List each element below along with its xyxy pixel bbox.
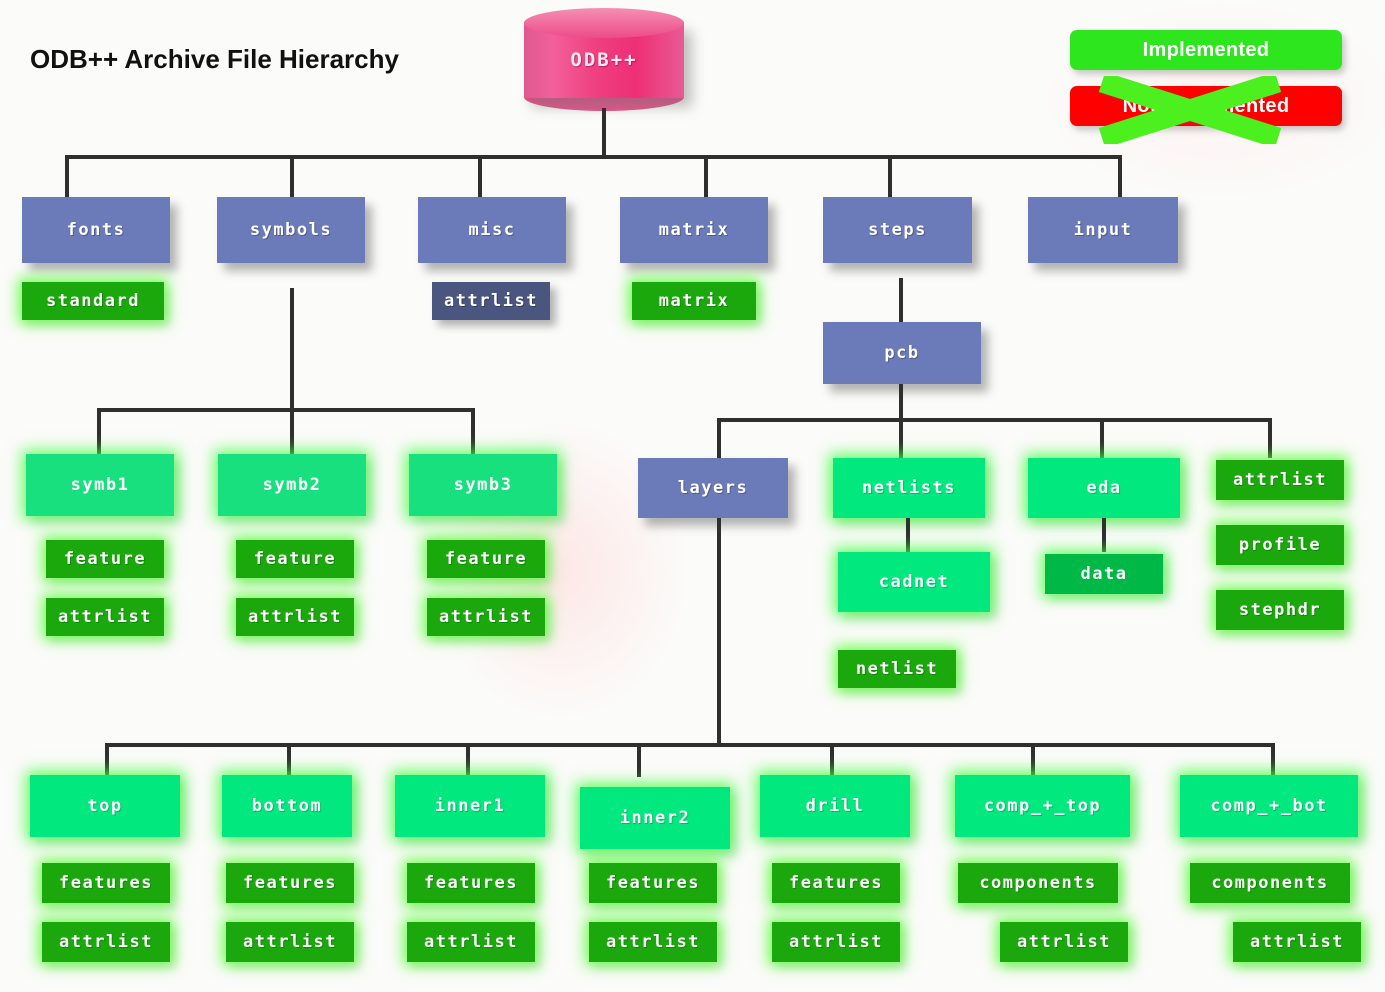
node-fonts[interactable]: fonts: [22, 197, 170, 263]
connector-drop-comp-bot: [1271, 743, 1275, 777]
node-cadnet-label: cadnet: [879, 572, 949, 592]
node-top-label: top: [87, 796, 122, 816]
node-misc-attrlist[interactable]: attrlist: [432, 282, 550, 320]
node-comp-top-components[interactable]: components: [958, 863, 1118, 903]
node-comp-top-label: comp_+_top: [984, 796, 1101, 816]
node-cadnet[interactable]: cadnet: [838, 552, 990, 612]
node-comp-top-components-label: components: [979, 873, 1096, 893]
node-symbols-label: symbols: [250, 220, 332, 240]
node-symb2-feature[interactable]: feature: [236, 540, 354, 578]
node-netlist[interactable]: netlist: [838, 650, 956, 688]
node-pcb-attrlist-label: attrlist: [1233, 470, 1327, 490]
connector-drop-steps: [888, 155, 892, 197]
connector-drop-symb2: [290, 408, 294, 456]
node-bottom[interactable]: bottom: [222, 775, 352, 837]
diagram-canvas: ODB++ Archive File Hierarchy ODB++ Imple…: [0, 0, 1385, 992]
node-comp-top[interactable]: comp_+_top: [955, 775, 1130, 837]
cylinder-top-ellipse: [524, 8, 684, 38]
node-input-label: input: [1074, 220, 1133, 240]
node-layers-label: layers: [678, 478, 748, 498]
node-eda[interactable]: eda: [1028, 458, 1180, 518]
node-symb2-attrlist[interactable]: attrlist: [236, 598, 354, 636]
node-symbols[interactable]: symbols: [217, 197, 365, 263]
connector-drop-eda: [1100, 418, 1104, 458]
node-netlist-label: netlist: [856, 659, 938, 679]
node-drill-attrlist[interactable]: attrlist: [772, 922, 900, 962]
node-symb3-feature-label: feature: [445, 549, 527, 569]
root-node-odbpp[interactable]: ODB++: [524, 8, 684, 108]
connector-drop-matrix: [704, 155, 708, 197]
node-drill-label: drill: [806, 796, 865, 816]
connector-pcb-bus: [717, 418, 1272, 422]
node-pcb-label: pcb: [884, 343, 919, 363]
legend: Implemented Not Implemented: [1070, 30, 1342, 126]
node-bottom-features[interactable]: features: [226, 863, 354, 903]
node-bottom-attrlist[interactable]: attrlist: [226, 922, 354, 962]
connector-drop-symb1: [97, 408, 101, 456]
connector-drop-inner2: [637, 743, 641, 777]
node-inner2-attrlist[interactable]: attrlist: [589, 922, 717, 962]
node-comp-bot-components-label: components: [1211, 873, 1328, 893]
node-input[interactable]: input: [1028, 197, 1178, 263]
connector-steps-to-pcb: [899, 278, 903, 322]
node-standard[interactable]: standard: [22, 282, 164, 320]
node-misc[interactable]: misc: [418, 197, 566, 263]
legend-implemented: Implemented: [1070, 30, 1342, 70]
node-pcb-profile-label: profile: [1239, 535, 1321, 555]
connector-drop-inner1: [466, 743, 470, 777]
node-misc-label: misc: [469, 220, 516, 240]
node-bottom-label: bottom: [252, 796, 322, 816]
connector-eda-to-data: [1102, 518, 1106, 552]
node-symb3-attrlist-label: attrlist: [439, 607, 533, 627]
node-netlists[interactable]: netlists: [833, 458, 985, 518]
node-inner1-attrlist[interactable]: attrlist: [407, 922, 535, 962]
node-inner1-features[interactable]: features: [407, 863, 535, 903]
node-comp-bot-components[interactable]: components: [1190, 863, 1350, 903]
node-comp-top-attrlist[interactable]: attrlist: [1000, 922, 1128, 962]
node-comp-bot-attrlist[interactable]: attrlist: [1233, 922, 1361, 962]
legend-not-implemented: Not Implemented: [1070, 86, 1342, 126]
node-matrix-label: matrix: [659, 220, 729, 240]
node-inner1-features-label: features: [424, 873, 518, 893]
node-symb2-feature-label: feature: [254, 549, 336, 569]
node-matrix-file-label: matrix: [659, 291, 729, 311]
connector-level1-bus: [65, 155, 1122, 159]
connector-pcb-stem: [899, 384, 903, 420]
node-top-attrlist-label: attrlist: [59, 932, 153, 952]
connector-symbols-bus: [97, 408, 475, 412]
node-inner2-features-label: features: [606, 873, 700, 893]
node-comp-bot-label: comp_+_bot: [1210, 796, 1327, 816]
node-symb1-label: symb1: [71, 475, 130, 495]
node-symb1-feature-label: feature: [64, 549, 146, 569]
node-symb2-label: symb2: [263, 475, 322, 495]
node-symb1[interactable]: symb1: [26, 454, 174, 516]
node-inner2[interactable]: inner2: [580, 787, 730, 849]
page-title: ODB++ Archive File Hierarchy: [30, 44, 399, 75]
node-matrix-file[interactable]: matrix: [632, 282, 756, 320]
connector-root-stem: [602, 108, 606, 158]
node-inner1-label: inner1: [435, 796, 505, 816]
node-pcb-profile[interactable]: profile: [1216, 525, 1344, 565]
node-symb3-attrlist[interactable]: attrlist: [427, 598, 545, 636]
connector-drop-top: [105, 743, 109, 777]
connector-netlists-to-cadnet: [906, 518, 910, 552]
node-bottom-features-label: features: [243, 873, 337, 893]
node-drill-features[interactable]: features: [772, 863, 900, 903]
connector-drop-misc: [478, 155, 482, 197]
node-drill-features-label: features: [789, 873, 883, 893]
node-comp-bot[interactable]: comp_+_bot: [1180, 775, 1358, 837]
connector-drop-symb3: [471, 408, 475, 456]
node-symb3-label: symb3: [454, 475, 513, 495]
legend-not-implemented-label: Not Implemented: [1123, 95, 1290, 118]
connector-drop-netlists: [899, 418, 903, 458]
node-symb1-feature[interactable]: feature: [46, 540, 164, 578]
connector-layers-stem: [717, 518, 721, 745]
node-drill[interactable]: drill: [760, 775, 910, 837]
connector-drop-fonts: [65, 155, 69, 197]
connector-drop-input: [1118, 155, 1122, 197]
node-symb2-attrlist-label: attrlist: [248, 607, 342, 627]
connector-symbols-stem: [290, 288, 294, 410]
node-top[interactable]: top: [30, 775, 180, 837]
node-symb1-attrlist[interactable]: attrlist: [46, 598, 164, 636]
node-fonts-label: fonts: [67, 220, 126, 240]
node-data[interactable]: data: [1045, 554, 1163, 594]
root-node-label: ODB++: [524, 38, 684, 82]
node-symb2[interactable]: symb2: [218, 454, 366, 516]
node-top-features[interactable]: features: [42, 863, 170, 903]
node-steps-label: steps: [868, 220, 927, 240]
legend-implemented-label: Implemented: [1143, 39, 1270, 62]
node-matrix[interactable]: matrix: [620, 197, 768, 263]
connector-layers-bus: [105, 743, 1275, 747]
node-layers[interactable]: layers: [638, 458, 788, 518]
node-bottom-attrlist-label: attrlist: [243, 932, 337, 952]
node-pcb-stephdr[interactable]: stephdr: [1216, 590, 1344, 630]
connector-drop-drill: [830, 743, 834, 777]
node-comp-top-attrlist-label: attrlist: [1017, 932, 1111, 952]
connector-drop-symbols: [290, 155, 294, 197]
node-misc-attrlist-label: attrlist: [444, 291, 538, 311]
node-netlists-label: netlists: [862, 478, 956, 498]
node-symb3[interactable]: symb3: [409, 454, 557, 516]
node-inner2-label: inner2: [620, 808, 690, 828]
node-drill-attrlist-label: attrlist: [789, 932, 883, 952]
node-pcb-attrlist[interactable]: attrlist: [1216, 460, 1344, 500]
node-comp-bot-attrlist-label: attrlist: [1250, 932, 1344, 952]
node-eda-label: eda: [1086, 478, 1121, 498]
node-data-label: data: [1081, 564, 1128, 584]
connector-drop-pcb-attrlist: [1268, 418, 1272, 458]
node-pcb[interactable]: pcb: [823, 322, 981, 384]
node-inner2-features[interactable]: features: [589, 863, 717, 903]
node-pcb-stephdr-label: stephdr: [1239, 600, 1321, 620]
node-standard-label: standard: [46, 291, 140, 311]
node-inner1-attrlist-label: attrlist: [424, 932, 518, 952]
connector-drop-layers: [717, 418, 721, 458]
node-symb3-feature[interactable]: feature: [427, 540, 545, 578]
node-top-attrlist[interactable]: attrlist: [42, 922, 170, 962]
node-symb1-attrlist-label: attrlist: [58, 607, 152, 627]
connector-drop-comp-top: [1031, 743, 1035, 777]
node-inner2-attrlist-label: attrlist: [606, 932, 700, 952]
connector-drop-bottom: [287, 743, 291, 777]
node-steps[interactable]: steps: [823, 197, 972, 263]
node-inner1[interactable]: inner1: [395, 775, 545, 837]
node-top-features-label: features: [59, 873, 153, 893]
